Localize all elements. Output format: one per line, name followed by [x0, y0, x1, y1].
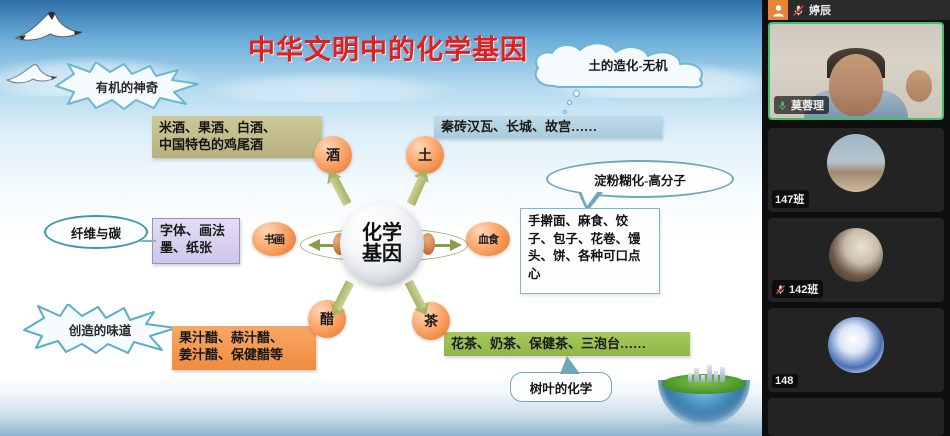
participant-tile-webcam[interactable]: 莫蓉理 — [768, 22, 944, 120]
mic-muted-icon — [775, 283, 786, 296]
participant-label: 148 — [772, 374, 798, 388]
arrow-to-tea — [400, 278, 433, 320]
participant-label: 莫蓉理 — [774, 96, 829, 114]
shared-slide[interactable]: 中华文明中的化学基因 有机的神奇 土的造化-无机 秦砖汉瓦、长城、故宫…… 米酒… — [0, 0, 762, 436]
callout-leaf-chemistry-label: 树叶的化学 — [530, 378, 593, 397]
mic-muted-icon — [792, 4, 805, 17]
center-node-chemical-gene[interactable]: 化学 基因 — [340, 202, 424, 286]
seagull-icon-2 — [6, 62, 58, 86]
participant-tile-142[interactable]: 142班 — [768, 218, 944, 302]
callout-fiber-carbon: 纤维与碳 — [44, 215, 148, 249]
connector-fiber-to-box — [140, 240, 156, 242]
cloud-thought-dots — [563, 90, 587, 118]
textbox-wine-detail: 米酒、果酒、白酒、 中国特色的鸡尾酒 — [152, 116, 322, 158]
avatar — [828, 317, 884, 373]
page-title: 中华文明中的化学基因 — [228, 28, 548, 67]
cloud-band-mid — [200, 72, 460, 102]
participant-label: 147班 — [772, 190, 809, 208]
arrow-to-vinegar — [324, 278, 357, 320]
center-node-line1: 化学 — [362, 223, 402, 244]
participant-name: 莫蓉理 — [791, 97, 824, 113]
textbox-tea-detail: 花茶、奶茶、保健茶、三泡台…… — [444, 332, 690, 356]
participant-name: 148 — [775, 375, 793, 387]
callout-starch-label: 淀粉糊化-高分子 — [594, 170, 686, 189]
node-staple-food[interactable]: 血食 — [466, 222, 510, 256]
participant-name: 142班 — [789, 281, 818, 297]
callout-starch-gelatinization: 淀粉糊化-高分子 — [546, 160, 734, 198]
callout-organic-magic: 有机的神奇 — [52, 62, 202, 110]
callout-created-flavor: 创造的味道 — [20, 304, 180, 354]
textbox-staple-food-detail: 手擀面、麻食、饺子、包子、花卷、馒头、饼、各种可口点心 — [520, 208, 660, 294]
callout-earth-creation: 土的造化-无机 — [528, 44, 728, 90]
participant-avatar-icon — [768, 0, 788, 20]
textbox-calligraphy-detail: 字体、画法 墨、纸张 — [152, 218, 240, 264]
callout-earth-creation-label: 土的造化-无机 — [528, 55, 728, 74]
callout-created-flavor-label: 创造的味道 — [69, 320, 132, 339]
callout-organic-magic-label: 有机的神奇 — [96, 77, 159, 96]
callout-leaf-chemistry: 树叶的化学 — [510, 372, 612, 402]
node-calligraphy[interactable]: 书画 — [252, 222, 296, 256]
active-speaker-name: 婷辰 — [809, 2, 831, 18]
orbit-arrow-right-head — [450, 239, 462, 251]
callout-fiber-carbon-label: 纤维与碳 — [71, 223, 121, 242]
textbox-vinegar-detail: 果汁醋、蒜汁醋、 姜汁醋、保健醋等 — [172, 326, 316, 370]
avatar — [829, 228, 883, 282]
seagull-icon — [14, 8, 84, 46]
avatar — [827, 134, 885, 192]
arrow-to-earth — [403, 166, 435, 208]
participant-label: 142班 — [772, 280, 823, 298]
screen-share-window: 中华文明中的化学基因 有机的神奇 土的造化-无机 秦砖汉瓦、长城、故宫…… 米酒… — [0, 0, 950, 436]
participant-tile-148[interactable]: 148 — [768, 308, 944, 392]
callout-leaf-tail — [560, 356, 580, 374]
eco-earth-graphic — [648, 366, 760, 430]
participant-name: 147班 — [775, 191, 804, 207]
arrow-to-wine — [322, 166, 356, 208]
textbox-earth-detail: 秦砖汉瓦、长城、故宫…… — [434, 116, 662, 138]
active-speaker-banner: 婷辰 — [768, 0, 950, 20]
center-node-line2: 基因 — [362, 244, 402, 265]
participant-tile-147[interactable]: 147班 — [768, 128, 944, 212]
orbit-arrow-left-head — [308, 239, 320, 251]
participant-tile-partial[interactable] — [768, 398, 944, 436]
mic-unmuted-icon — [777, 99, 788, 112]
